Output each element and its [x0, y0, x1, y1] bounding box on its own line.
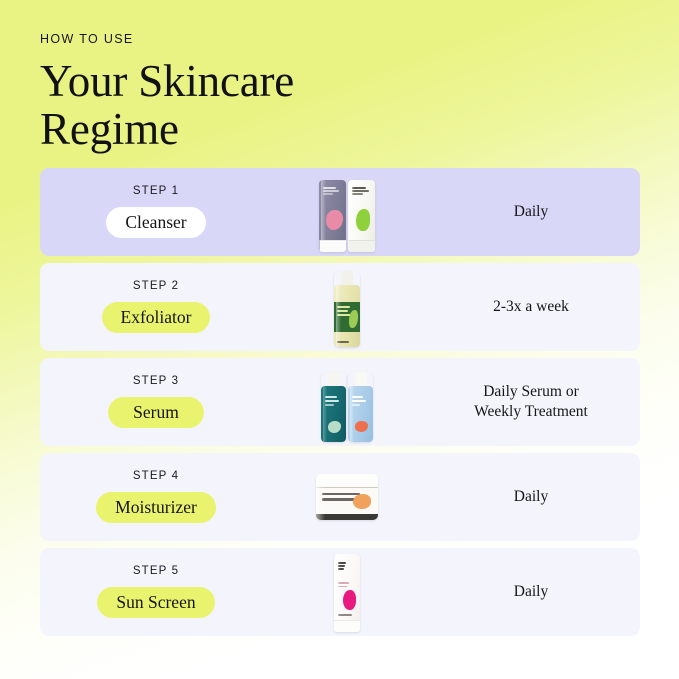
step-name-pill[interactable]: Moisturizer	[96, 492, 216, 523]
table-row: STEP 1 Cleanser	[40, 168, 640, 256]
sunscreen-tube-icon	[304, 552, 390, 632]
product-image-cell	[272, 358, 422, 446]
frequency-cell: Daily Serum or Weekly Treatment	[422, 382, 640, 423]
frequency-text: Daily Serum or Weekly Treatment	[474, 382, 588, 423]
frequency-cell: Daily	[422, 202, 640, 222]
header: HOW TO USE Your Skincare Regime	[40, 32, 600, 153]
frequency-text: Daily	[514, 202, 548, 222]
frequency-text: Daily	[514, 582, 548, 602]
step-name-pill[interactable]: Serum	[108, 397, 204, 428]
step-label-cell: STEP 5 Sun Screen	[40, 566, 272, 618]
product-image-cell	[272, 263, 422, 351]
frequency-text: 2-3x a week	[493, 297, 569, 317]
table-row: STEP 5 Sun Screen	[40, 548, 640, 636]
frequency-cell: Daily	[422, 487, 640, 507]
step-number: STEP 1	[133, 186, 179, 198]
step-label-cell: STEP 3 Serum	[40, 376, 272, 428]
infographic-page: HOW TO USE Your Skincare Regime STEP 1 C…	[0, 0, 679, 679]
product-image-cell	[272, 548, 422, 636]
eyebrow-label: HOW TO USE	[40, 32, 600, 47]
frequency-cell: Daily	[422, 582, 640, 602]
step-number: STEP 5	[133, 566, 179, 578]
table-row: STEP 3 Serum	[40, 358, 640, 446]
step-name-pill[interactable]: Exfoliator	[102, 302, 211, 333]
product-image-cell	[272, 453, 422, 541]
step-name-pill[interactable]: Sun Screen	[97, 587, 214, 618]
page-title: Your Skincare Regime	[40, 57, 600, 153]
product-image-cell	[272, 168, 422, 256]
bottle-label-lines	[352, 396, 369, 406]
exfoliator-bottle-icon	[304, 267, 390, 347]
table-row: STEP 4 Moisturizer	[40, 453, 640, 541]
step-number: STEP 4	[133, 471, 179, 483]
step-label-cell: STEP 1 Cleanser	[40, 186, 272, 238]
water-cream-jar-icon	[304, 457, 390, 537]
frequency-text: Daily	[514, 487, 548, 507]
step-name-pill[interactable]: Cleanser	[106, 207, 205, 238]
frequency-cell: 2-3x a week	[422, 297, 640, 317]
serum-bottles-icon	[304, 362, 390, 442]
step-label-cell: STEP 2 Exfoliator	[40, 281, 272, 333]
cleanser-tubes-icon	[304, 172, 390, 252]
bottle-label-lines	[325, 396, 342, 406]
step-number: STEP 3	[133, 376, 179, 388]
step-number: STEP 2	[133, 281, 179, 293]
table-row: STEP 2 Exfoliator	[40, 263, 640, 351]
step-label-cell: STEP 4 Moisturizer	[40, 471, 272, 523]
steps-list: STEP 1 Cleanser	[40, 168, 640, 636]
